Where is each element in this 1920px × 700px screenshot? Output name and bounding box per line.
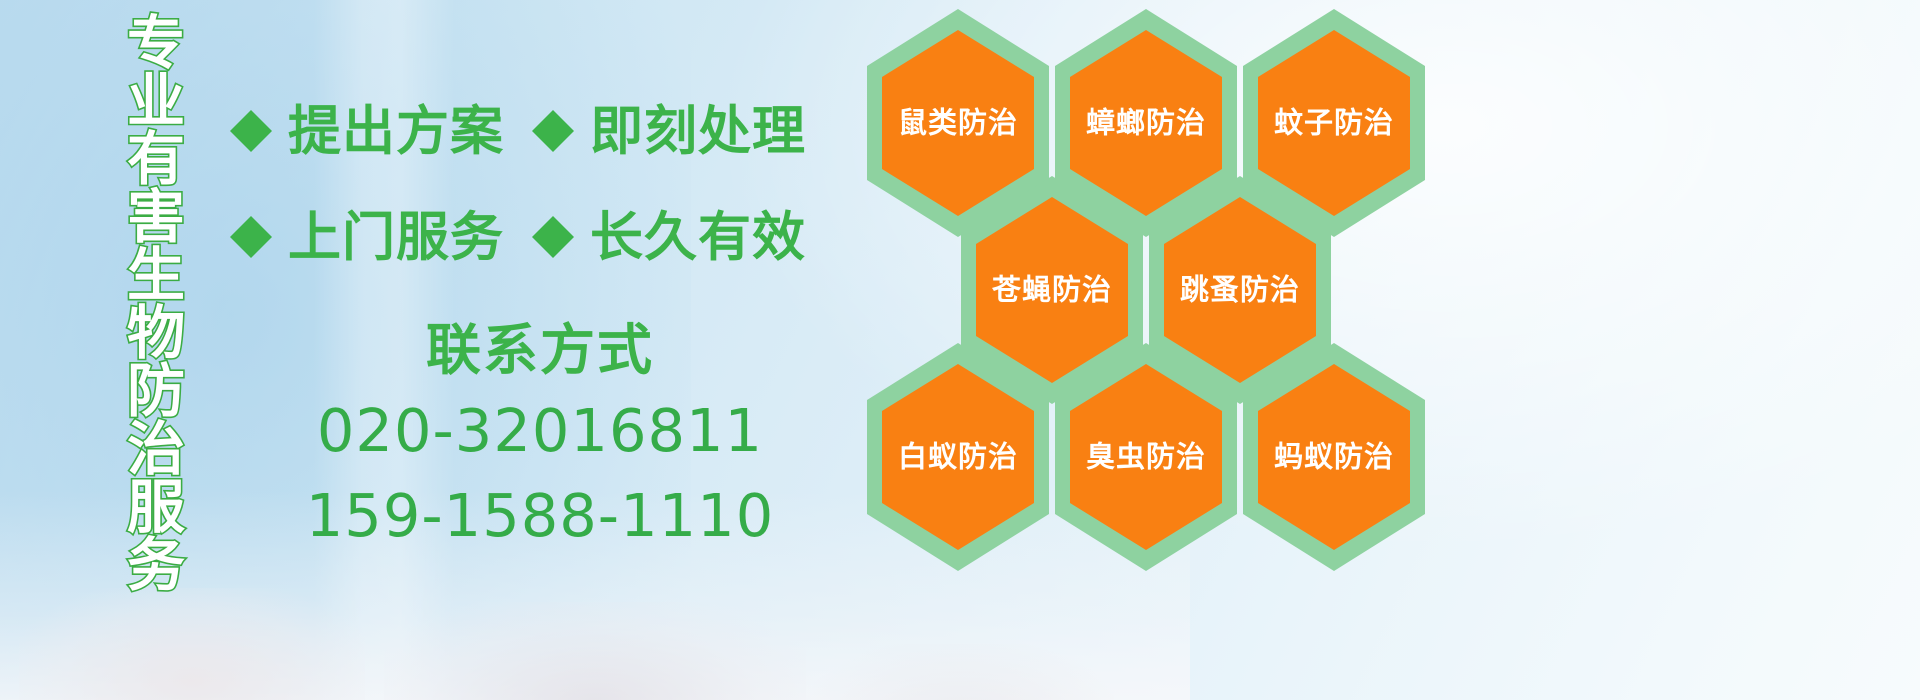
service-hex-label: 苍蝇防治 bbox=[958, 276, 1146, 305]
headline-char-6: 物 bbox=[127, 304, 185, 362]
service-hex-label: 臭虫防治 bbox=[1052, 443, 1240, 472]
contact-phone-mobile[interactable]: 159-1588-1110 bbox=[230, 478, 850, 554]
service-hex-label: 白蚁防治 bbox=[864, 443, 1052, 472]
feature-item-propose-plan: 提出方案 bbox=[228, 105, 504, 158]
feature-label: 上门服务 bbox=[288, 211, 504, 264]
background-blob-left bbox=[19, 588, 365, 700]
feature-item-onsite-service: 上门服务 bbox=[228, 211, 504, 264]
headline-char-7: 防 bbox=[127, 362, 185, 420]
contact-block: 联系方式 020-32016811 159-1588-1110 bbox=[230, 318, 850, 554]
headline-char-2: 业 bbox=[127, 72, 185, 130]
diamond-icon bbox=[228, 108, 274, 154]
service-hexagon-grid: 鼠类防治 蟑螂防治 蚊子防治 苍蝇防治 bbox=[858, 0, 1458, 700]
contact-title: 联系方式 bbox=[230, 318, 850, 383]
feature-item-long-lasting: 长久有效 bbox=[530, 211, 806, 264]
feature-row-1: 提出方案 即刻处理 bbox=[228, 88, 868, 174]
feature-label: 即刻处理 bbox=[590, 105, 806, 158]
service-hex-label: 蚂蚁防治 bbox=[1240, 443, 1428, 472]
headline-char-3: 有 bbox=[127, 130, 185, 188]
service-hex-ant[interactable]: 蚂蚁防治 bbox=[1240, 340, 1428, 574]
headline-char-4: 害 bbox=[127, 188, 185, 246]
feature-list: 提出方案 即刻处理 上门服务 长久有效 bbox=[228, 88, 868, 280]
diamond-icon bbox=[530, 108, 576, 154]
feature-label: 提出方案 bbox=[288, 105, 504, 158]
service-hex-label: 跳蚤防治 bbox=[1146, 276, 1334, 305]
feature-label: 长久有效 bbox=[590, 211, 806, 264]
service-hex-label: 鼠类防治 bbox=[864, 109, 1052, 138]
headline-char-9: 服 bbox=[127, 478, 185, 536]
diamond-icon bbox=[228, 214, 274, 260]
headline-char-5: 生 bbox=[127, 246, 185, 304]
feature-row-2: 上门服务 长久有效 bbox=[228, 194, 868, 280]
diamond-icon bbox=[530, 214, 576, 260]
headline-char-1: 专 bbox=[127, 14, 185, 72]
headline-char-10: 务 bbox=[127, 536, 185, 594]
feature-item-immediate-handling: 即刻处理 bbox=[530, 105, 806, 158]
contact-phone-landline[interactable]: 020-32016811 bbox=[230, 393, 850, 469]
service-hex-termite[interactable]: 白蚁防治 bbox=[864, 340, 1052, 574]
service-hex-label: 蟑螂防治 bbox=[1052, 109, 1240, 138]
service-hex-label: 蚊子防治 bbox=[1240, 109, 1428, 138]
background-blob-center bbox=[384, 602, 806, 700]
service-hex-bedbug[interactable]: 臭虫防治 bbox=[1052, 340, 1240, 574]
headline-char-8: 治 bbox=[127, 420, 185, 478]
vertical-headline: 专 业 有 害 生 物 防 治 服 务 bbox=[108, 14, 204, 559]
promo-banner: 专 业 有 害 生 物 防 治 服 务 提出方案 即刻处理 bbox=[0, 0, 1920, 700]
